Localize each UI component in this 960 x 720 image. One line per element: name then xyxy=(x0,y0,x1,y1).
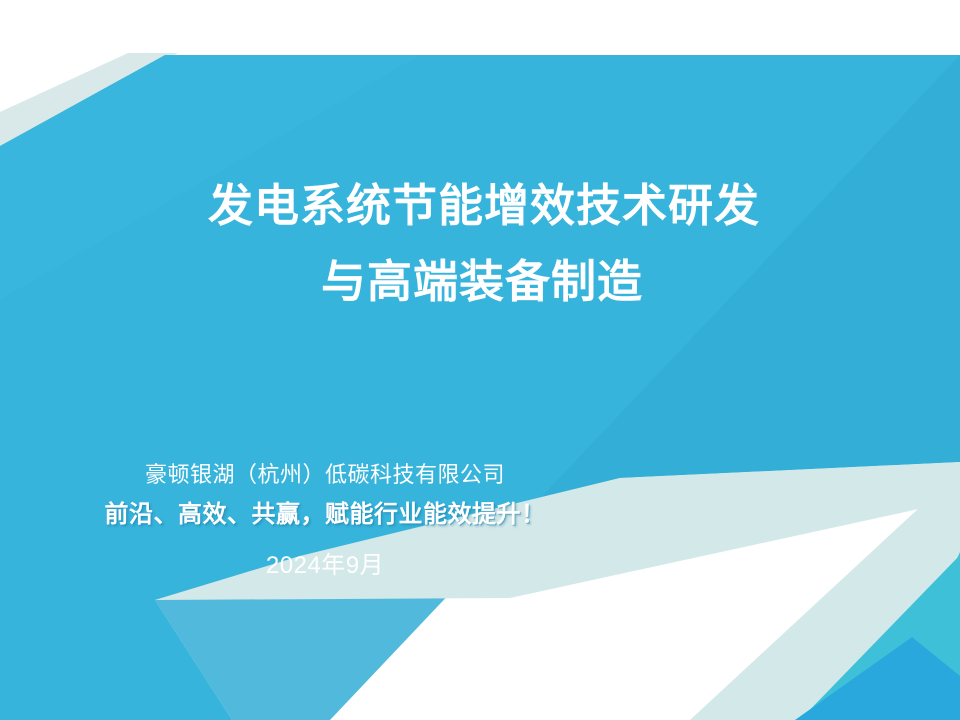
footer-block: 豪顿银湖（杭州）低碳科技有限公司 前沿、高效、共赢，赋能行业能效提升！ 2024… xyxy=(0,458,650,588)
page-title-line-2: 与高端装备制造 xyxy=(0,244,960,320)
presentation-date: 2024年9月 xyxy=(0,544,650,588)
company-slogan: 前沿、高效、共赢，赋能行业能效提升！ xyxy=(0,492,650,536)
company-name: 豪顿银湖（杭州）低碳科技有限公司 xyxy=(0,458,650,492)
title-slide: 发电系统节能增效技术研发 与高端装备制造 豪顿银湖（杭州）低碳科技有限公司 前沿… xyxy=(0,0,960,720)
slide-text-layer: 发电系统节能增效技术研发 与高端装备制造 豪顿银湖（杭州）低碳科技有限公司 前沿… xyxy=(0,0,960,720)
page-title-line-1: 发电系统节能增效技术研发 xyxy=(0,168,960,244)
title-block: 发电系统节能增效技术研发 与高端装备制造 xyxy=(0,168,960,320)
